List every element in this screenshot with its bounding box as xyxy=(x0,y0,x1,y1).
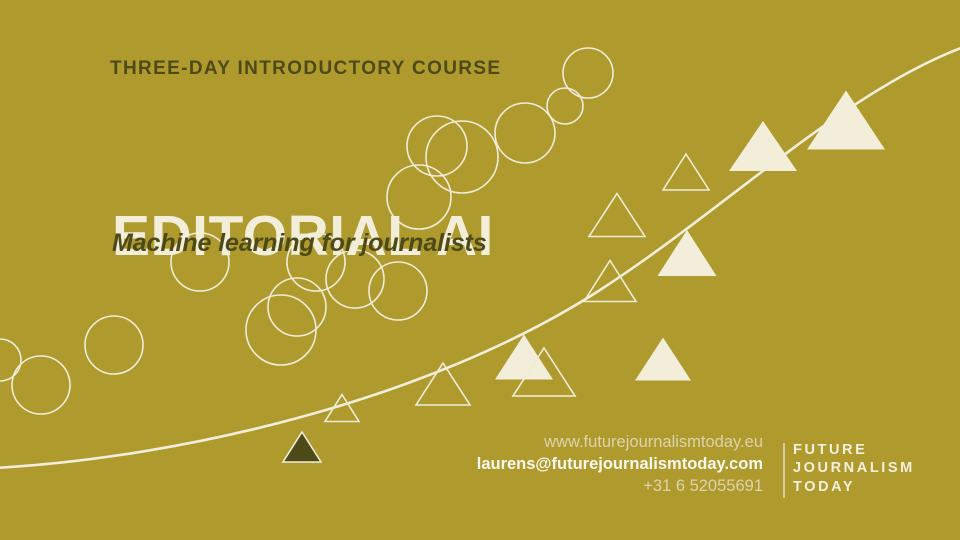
brand-logo-line-2: JOURNALISM xyxy=(793,459,915,477)
brand-logo: FUTURE JOURNALISM TODAY xyxy=(793,441,915,496)
brand-logo-line-3: TODAY xyxy=(793,478,915,496)
poster-canvas: THREE-DAY INTRODUCTORY COURSE EDITORIAL … xyxy=(0,0,960,540)
contact-email[interactable]: laurens@futurejournalismtoday.com xyxy=(477,454,763,476)
logo-divider-rule xyxy=(783,443,785,498)
contact-phone[interactable]: +31 6 52055691 xyxy=(477,476,763,498)
brand-logo-line-1: FUTURE xyxy=(793,441,915,459)
course-eyebrow-label: THREE-DAY INTRODUCTORY COURSE xyxy=(110,58,501,80)
poster-text-layer: THREE-DAY INTRODUCTORY COURSE EDITORIAL … xyxy=(0,0,960,540)
contact-block: www.futurejournalismtoday.eu laurens@fut… xyxy=(477,432,763,497)
page-subtitle: Machine learning for journalists xyxy=(112,231,487,256)
contact-website[interactable]: www.futurejournalismtoday.eu xyxy=(477,432,763,454)
